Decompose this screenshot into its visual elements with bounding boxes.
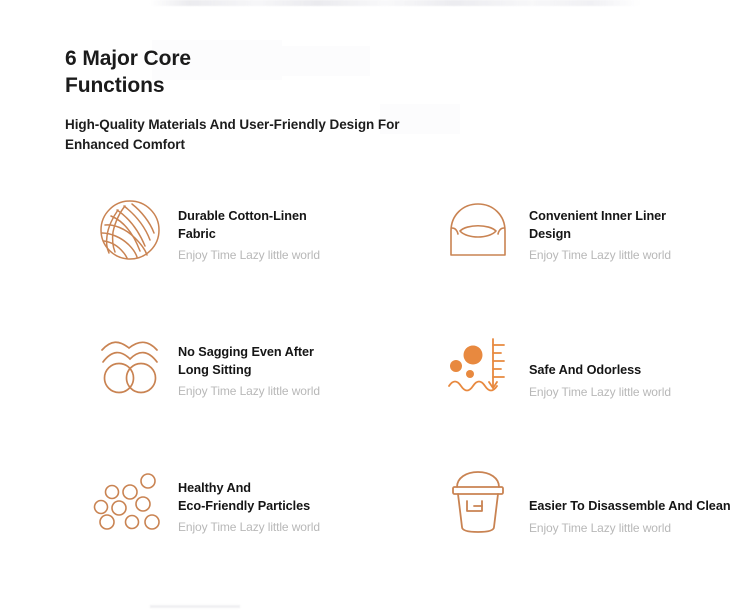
feature-subtitle: Enjoy Time Lazy little world	[178, 379, 375, 400]
feature-item-eco-friendly-particles: Healthy And Eco-Friendly Particles Enjoy…	[0, 454, 375, 590]
feature-title: Convenient Inner Liner Design	[529, 208, 729, 243]
feature-subtitle: Enjoy Time Lazy little world	[178, 515, 375, 536]
feature-title-line-1: Durable Cotton-Linen	[178, 209, 307, 223]
bottom-edge-artifact	[150, 605, 240, 608]
feature-text: Durable Cotton-Linen Fabric Enjoy Time L…	[167, 182, 375, 264]
page-subtitle-line-2: Enhanced Comfort	[65, 137, 185, 152]
feature-subtitle: Enjoy Time Lazy little world	[178, 243, 375, 264]
feature-subtitle: Enjoy Time Lazy little world	[529, 243, 750, 264]
feature-item-convenient-inner-liner-design: Convenient Inner Liner Design Enjoy Time…	[375, 182, 750, 318]
feature-title-line-2: Fabric	[178, 227, 216, 241]
feature-title: Safe And Odorless	[529, 362, 729, 380]
top-edge-artifact	[150, 0, 640, 6]
feature-subtitle: Enjoy Time Lazy little world	[529, 380, 750, 401]
product-feature-page: 6 Major Core Functions High-Quality Mate…	[0, 0, 750, 610]
feature-title-line-2: Eco-Friendly Particles	[178, 499, 310, 513]
feature-title-line-1: No Sagging Even After	[178, 345, 314, 359]
inner-liner-bag-icon	[441, 193, 515, 267]
feature-title-line-1: Healthy And	[178, 481, 251, 495]
feature-text: Convenient Inner Liner Design Enjoy Time…	[515, 182, 750, 264]
page-title-line-1: 6 Major Core	[65, 47, 191, 70]
feature-grid: Durable Cotton-Linen Fabric Enjoy Time L…	[0, 182, 750, 590]
feature-title: No Sagging Even After Long Sitting	[178, 344, 348, 379]
yarn-ball-icon	[93, 193, 167, 267]
feature-text: Healthy And Eco-Friendly Particles Enjoy…	[167, 454, 375, 536]
feature-item-safe-and-odorless: Safe And Odorless Enjoy Time Lazy little…	[375, 318, 750, 454]
page-subtitle-line-1: High-Quality Materials And User-Friendly…	[65, 117, 400, 132]
feature-subtitle: Enjoy Time Lazy little world	[529, 516, 750, 537]
feature-text: Safe And Odorless Enjoy Time Lazy little…	[515, 318, 750, 400]
page-title: 6 Major Core Functions	[65, 46, 495, 100]
feature-item-easier-to-disassemble-and-clean: Easier To Disassemble And Clean Enjoy Ti…	[375, 454, 750, 590]
feature-title-line-2: Long Sitting	[178, 363, 251, 377]
page-title-line-2: Functions	[65, 74, 164, 97]
feature-text: No Sagging Even After Long Sitting Enjoy…	[167, 318, 375, 400]
feature-title-line-1: Convenient Inner Liner	[529, 209, 666, 223]
feature-item-durable-cotton-linen-fabric: Durable Cotton-Linen Fabric Enjoy Time L…	[0, 182, 375, 318]
feature-text: Easier To Disassemble And Clean Enjoy Ti…	[515, 454, 750, 536]
eco-particles-icon	[93, 465, 167, 539]
spring-cushion-icon	[93, 329, 167, 403]
feature-title-line-2: Design	[529, 227, 571, 241]
odorless-bubbles-icon	[441, 329, 515, 403]
heading-block: 6 Major Core Functions High-Quality Mate…	[65, 46, 495, 154]
feature-title: Durable Cotton-Linen Fabric	[178, 208, 348, 243]
bucket-icon	[441, 465, 515, 539]
feature-title: Easier To Disassemble And Clean	[529, 498, 750, 516]
feature-title: Healthy And Eco-Friendly Particles	[178, 480, 348, 515]
page-subtitle: High-Quality Materials And User-Friendly…	[65, 100, 405, 155]
feature-item-no-sagging: No Sagging Even After Long Sitting Enjoy…	[0, 318, 375, 454]
